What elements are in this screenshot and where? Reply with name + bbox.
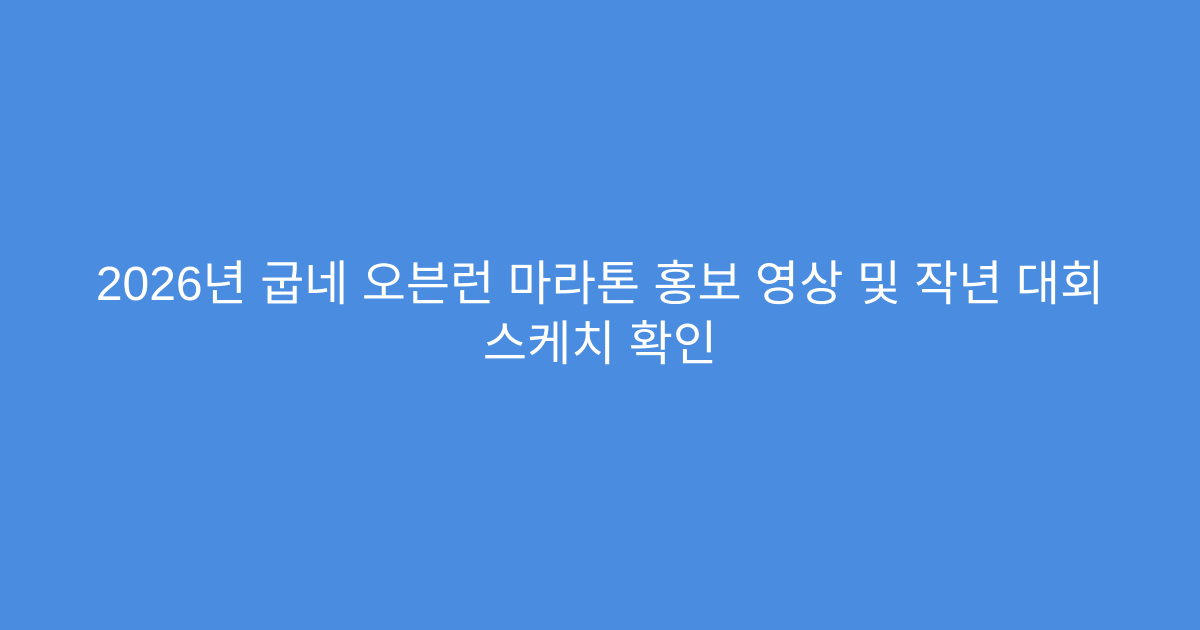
og-card: 2026년 굽네 오븐런 마라톤 홍보 영상 및 작년 대회 스케치 확인 xyxy=(0,0,1200,630)
page-title: 2026년 굽네 오븐런 마라톤 홍보 영상 및 작년 대회 스케치 확인 xyxy=(55,255,1145,375)
title-block: 2026년 굽네 오븐런 마라톤 홍보 영상 및 작년 대회 스케치 확인 xyxy=(55,255,1145,375)
